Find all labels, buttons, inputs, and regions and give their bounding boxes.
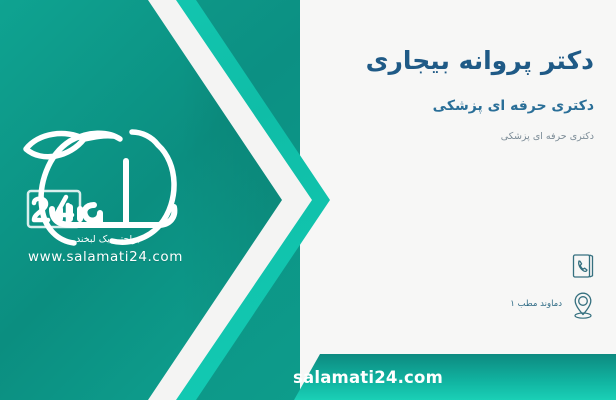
doctor-specialty: دکتری حرفه ای پزشکی bbox=[433, 98, 594, 114]
contact-label-location: دماوند مطب ۱ bbox=[510, 299, 562, 311]
contact-row-phone[interactable] bbox=[446, 248, 596, 286]
doctor-name: دکتر پروانه بیجاری bbox=[366, 44, 594, 78]
salamati24-apple-logo: براحتی یک لبخند bbox=[8, 105, 203, 255]
location-pin-icon bbox=[570, 290, 596, 320]
brand-logo[interactable]: براحتی یک لبخند www.salamati24.com bbox=[8, 105, 203, 280]
logo-tagline-text: براحتی یک لبخند bbox=[76, 234, 140, 245]
doctor-profile-card: براحتی یک لبخند www.salamati24.com دکتر … bbox=[0, 0, 616, 400]
footer-website[interactable]: salamati24.com bbox=[0, 354, 616, 400]
contact-info-block: دماوند مطب ۱ bbox=[446, 248, 596, 324]
doctor-specialty-secondary: دکتری حرفه ای پزشکی bbox=[501, 131, 594, 142]
logo-website-url[interactable]: www.salamati24.com bbox=[8, 249, 203, 265]
contact-row-location[interactable]: دماوند مطب ۱ bbox=[446, 286, 596, 324]
phone-book-icon bbox=[570, 252, 596, 282]
